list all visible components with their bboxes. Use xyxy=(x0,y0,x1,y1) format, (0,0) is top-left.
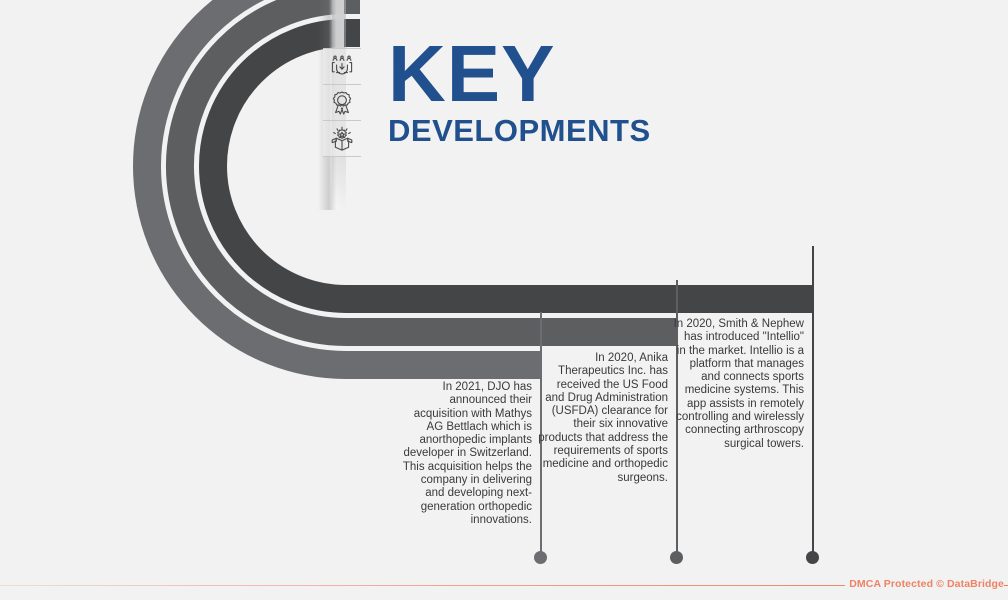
infographic-canvas: KEY DEVELOPMENTS In 2021, DJO has announ… xyxy=(0,0,1008,600)
timeline-entry-text-2: In 2020, Anika Therapeutics Inc. has rec… xyxy=(536,352,676,485)
timeline-entry-text-1: In 2021, DJO has announced their acquisi… xyxy=(400,381,540,527)
title-line-key: KEY xyxy=(388,36,653,112)
timeline-dot-3 xyxy=(806,551,819,564)
open-box-launch-icon xyxy=(323,120,361,157)
award-ribbon-icon xyxy=(323,84,361,120)
icon-stack xyxy=(323,48,361,157)
timeline-entry-text-3: In 2020, Smith & Nephew has introduced "… xyxy=(672,318,812,451)
page-title: KEY DEVELOPMENTS xyxy=(388,36,653,146)
dmca-watermark: DMCA Protected © DataBridge xyxy=(845,578,1004,590)
timeline-dot-2 xyxy=(670,551,683,564)
icon-rail xyxy=(318,0,364,210)
timeline-dot-1 xyxy=(534,551,547,564)
magnet-talent-icon xyxy=(323,48,361,84)
connector-line-3 xyxy=(812,246,814,552)
title-line-developments: DEVELOPMENTS xyxy=(388,115,651,146)
